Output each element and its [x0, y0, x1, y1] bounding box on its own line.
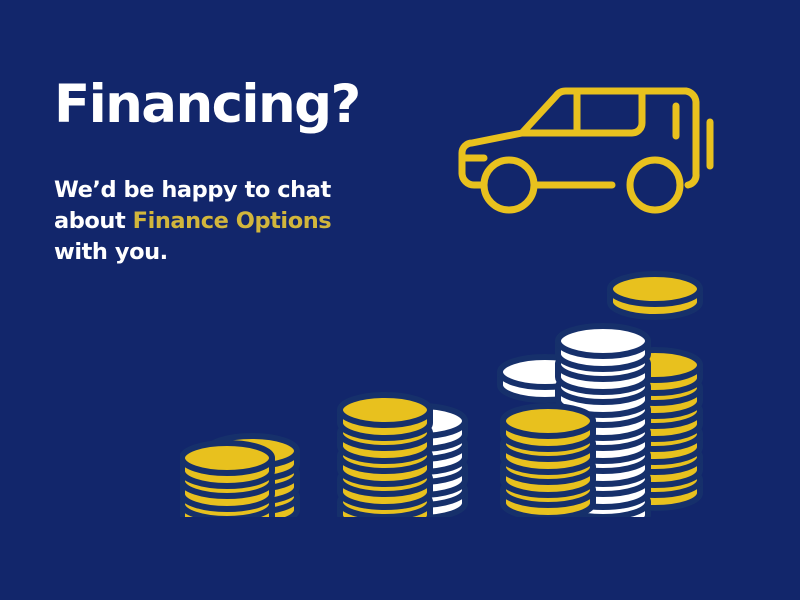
body-text: We’d be happy to chat about Finance Opti…: [54, 131, 384, 267]
coin-stack-medium-front-gold: [340, 395, 430, 517]
body-line-1: We’d be happy to chat: [54, 177, 331, 203]
car-illustration: [448, 78, 718, 223]
text-block: Financing? We’d be happy to chat about F…: [54, 78, 384, 267]
promo-graphic-canvas: Financing? We’d be happy to chat about F…: [0, 0, 800, 600]
ascending-coin-stacks-chart: [180, 262, 725, 517]
front-wheel-icon: [484, 160, 534, 210]
page-title: Financing?: [54, 78, 384, 131]
body-line-2-prefix: about: [54, 208, 133, 234]
suv-side-view-icon: [448, 78, 718, 223]
coin-stack-small-front: [182, 443, 272, 517]
body-line-3: with you.: [54, 239, 168, 265]
coin-group-medium: [340, 395, 465, 517]
rear-wheel-icon: [630, 160, 680, 210]
finance-options-highlight: Finance Options: [133, 208, 332, 234]
coin-group-large: [500, 274, 700, 517]
coin-group-small: [182, 436, 297, 517]
coin-stacks-illustration: [180, 262, 725, 517]
coin-stack-large-front-gold: [503, 406, 593, 517]
